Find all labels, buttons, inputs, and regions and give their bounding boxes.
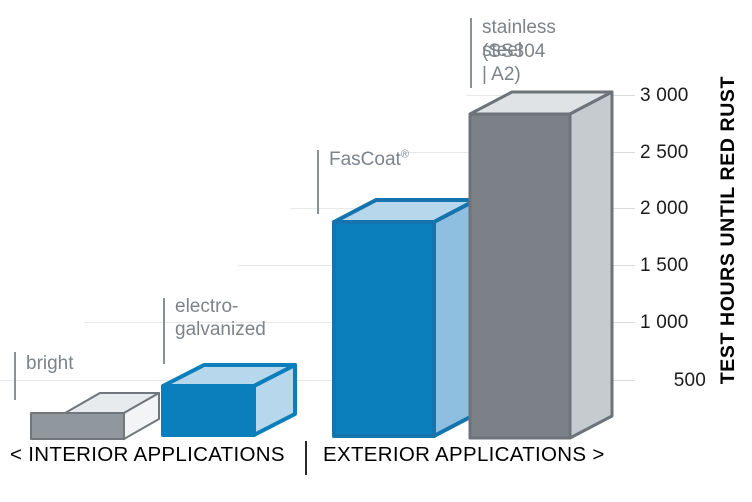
bar-fascoat[interactable] — [330, 196, 480, 442]
axis-tick-label-2500: 2 500 — [640, 142, 712, 164]
tick-mark-2500 — [613, 152, 635, 153]
axis-tick-label-3000: 3 000 — [640, 85, 712, 107]
chart-canvas: bright electro- galvanized FasCoat® stai… — [0, 0, 752, 502]
callout-electro-galvanized-label: electro- galvanized — [175, 295, 266, 341]
bar-bright[interactable] — [30, 392, 160, 440]
tick-mark-2000 — [613, 208, 635, 209]
axis-tick-label-1000: 1 000 — [640, 312, 712, 334]
registered-mark-icon: ® — [401, 149, 409, 161]
callout-bright-leader — [14, 352, 16, 400]
axis-tick-label-2000: 2 000 — [640, 198, 712, 220]
bar-stainless-steel[interactable] — [466, 88, 616, 444]
bar-electro-galvanized[interactable] — [158, 362, 298, 440]
callout-stainless-steel-leader — [470, 18, 472, 88]
callout-electro-galvanized-leader — [163, 298, 165, 364]
axis-group-exterior: EXTERIOR APPLICATIONS > — [323, 443, 605, 467]
bar-fascoat-shape — [330, 196, 480, 444]
bar-stainless-steel-shape — [466, 88, 616, 446]
tick-mark-500 — [613, 380, 635, 381]
callout-fascoat-label: FasCoat® — [329, 148, 409, 171]
tick-mark-3000 — [613, 95, 635, 96]
axis-tick-label-1500: 1 500 — [640, 255, 712, 277]
callout-fascoat-leader — [317, 150, 319, 214]
axis-group-interior: < INTERIOR APPLICATIONS — [10, 443, 285, 467]
callout-stainless-steel-label-line2: (SS304 | A2) — [482, 40, 545, 86]
y-axis-title: TEST HOURS UNTIL RED RUST — [706, 0, 750, 460]
tick-mark-1500 — [613, 265, 635, 266]
bar-bright-shape — [30, 392, 160, 440]
axis-group-divider — [305, 441, 307, 475]
callout-bright-label: bright — [26, 352, 74, 375]
bottom-axis: < INTERIOR APPLICATIONS EXTERIOR APPLICA… — [0, 443, 640, 483]
bar-electro-galvanized-shape — [158, 362, 298, 442]
axis-tick-label-500: 500 — [640, 370, 706, 392]
y-axis-title-text: TEST HOURS UNTIL RED RUST — [717, 76, 740, 384]
tick-mark-1000 — [613, 322, 635, 323]
callout-fascoat-name: FasCoat — [329, 149, 401, 170]
